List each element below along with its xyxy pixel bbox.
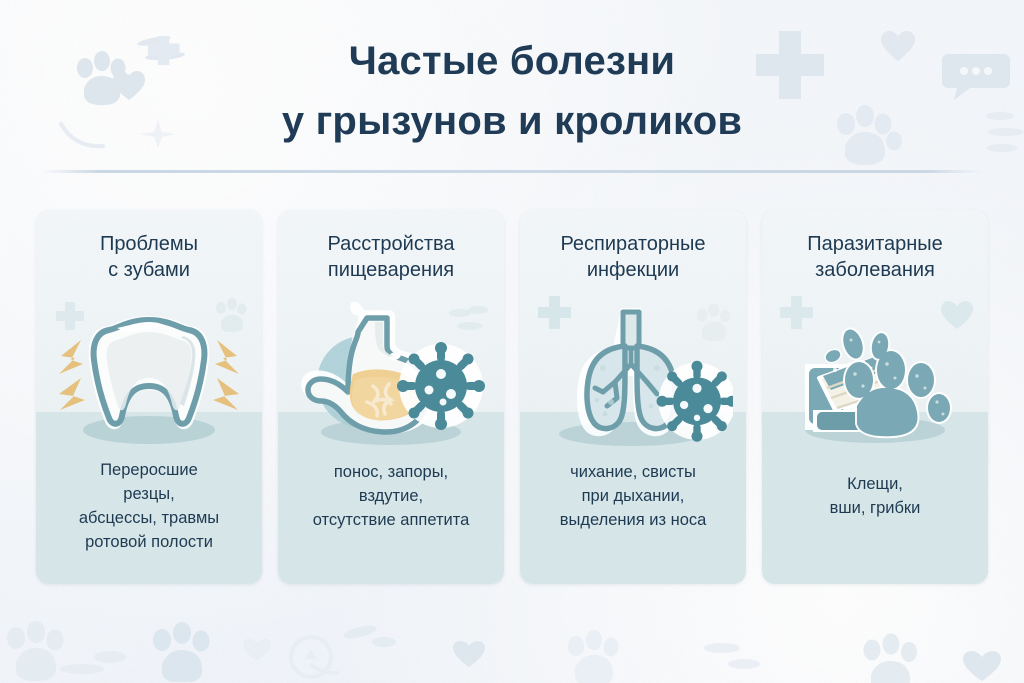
- whisker-watermark-4: [58, 645, 138, 681]
- lungs-with-virus-icon: [520, 302, 746, 452]
- heart-watermark-3: [242, 638, 272, 662]
- paw-print-watermark-4: [146, 620, 226, 682]
- page-title-line-1: Частые болезни: [0, 39, 1024, 84]
- card-parasitic-diseases[interactable]: Паразитарные заболевания: [762, 210, 988, 584]
- header: Частые болезни у грызунов и кроликов: [0, 0, 1024, 172]
- paw-print-watermark-5: [560, 628, 634, 683]
- card-title: Расстройства пищеварения: [286, 231, 496, 283]
- heart-watermark-4: [452, 640, 486, 668]
- paw-with-bandage-icon: [762, 302, 988, 452]
- card-description: чихание, свисты при дыхании, выделения и…: [526, 460, 740, 532]
- whisker-watermark-6: [700, 636, 764, 676]
- heart-watermark-5: [962, 650, 1002, 682]
- card-description: Клещи, вши, грибки: [768, 472, 982, 520]
- infographic-canvas: Частые болезни у грызунов и кроликов: [0, 0, 1024, 683]
- card-title: Паразитарные заболевания: [770, 231, 980, 283]
- cat-face-watermark: [285, 635, 341, 683]
- tooth-with-pain-icon: [36, 302, 262, 452]
- whisker-watermark-5: [340, 622, 400, 656]
- paw-print-watermark-6: [856, 632, 930, 683]
- card-title: Проблемы с зубами: [44, 231, 254, 283]
- card-description: Переросшие резцы, абсцессы, травмы ротов…: [42, 458, 256, 554]
- pain-bolt-right: [213, 340, 239, 410]
- card-description: понос, запоры, вздутие, отсутствие аппет…: [284, 460, 498, 532]
- header-divider: [42, 170, 982, 173]
- card-title: Респираторные инфекции: [528, 231, 738, 283]
- disease-card-grid: Проблемы с зубами: [36, 210, 988, 584]
- card-respiratory-infections[interactable]: Респираторные инфекции: [520, 210, 746, 584]
- card-digestive-disorders[interactable]: Расстройства пищеварения: [278, 210, 504, 584]
- stomach-with-virus-icon: [278, 302, 504, 452]
- card-dental-problems[interactable]: Проблемы с зубами: [36, 210, 262, 584]
- virus-glyph: [397, 342, 485, 430]
- pain-bolt-left: [59, 340, 85, 410]
- page-title-line-2: у грызунов и кроликов: [0, 99, 1024, 144]
- paw-print-watermark-3: [2, 620, 82, 682]
